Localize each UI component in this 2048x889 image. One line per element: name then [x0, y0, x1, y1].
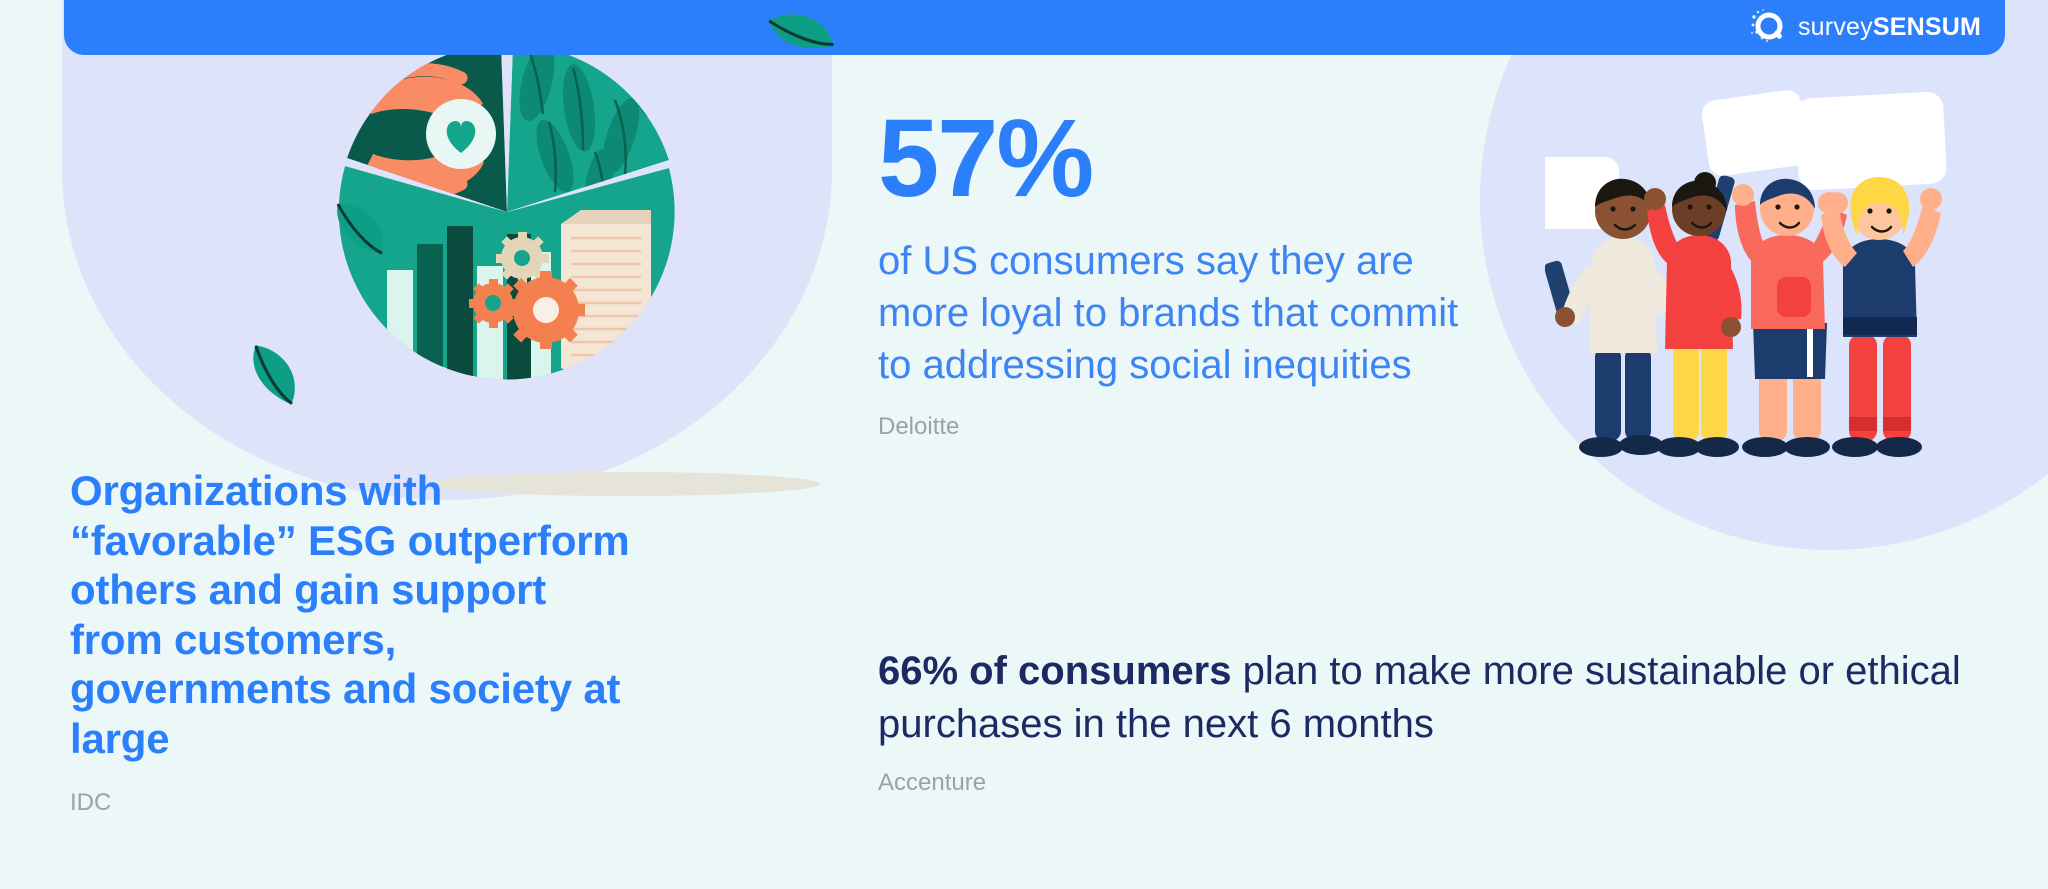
stat-description: of US consumers say they are more loyal … — [878, 235, 1498, 391]
protesters-with-signs-illustration — [1545, 85, 2005, 465]
bottom-source-label: Accenture — [878, 769, 2008, 797]
bottom-statement-emphasis: 66% of consumers — [878, 649, 1231, 693]
esg-segment-governance — [339, 166, 675, 386]
left-headline: Organizations with “favorable” ESG outpe… — [70, 466, 650, 763]
bottom-stat-block: 66% of consumers plan to make more susta… — [878, 645, 2008, 797]
left-source-label: IDC — [70, 789, 650, 817]
protester-figure — [1818, 177, 1942, 457]
brand-logo-text: surveySENSUM — [1798, 15, 1981, 40]
middle-source-label: Deloitte — [878, 413, 1498, 441]
protester-figure — [1644, 172, 1742, 457]
brand-logo[interactable]: surveySENSUM — [1750, 8, 1981, 48]
gear-icon — [469, 279, 518, 328]
brand-logo-text-light: survey — [1798, 13, 1873, 41]
infographic-canvas: surveySENSUM — [0, 0, 2048, 889]
gear-icon — [507, 271, 585, 349]
top-banner: surveySENSUM — [64, 0, 2005, 55]
bottom-statement: 66% of consumers plan to make more susta… — [878, 645, 2008, 751]
middle-stat-block: 57% of US consumers say they are more lo… — [878, 105, 1498, 441]
surveysensum-q-logo-icon — [1750, 8, 1790, 48]
left-stat-block: Organizations with “favorable” ESG outpe… — [70, 466, 650, 817]
stat-percentage: 57% — [878, 105, 1498, 213]
protest-sign — [1795, 91, 1948, 191]
brand-logo-text-bold: SENSUM — [1873, 13, 1981, 41]
